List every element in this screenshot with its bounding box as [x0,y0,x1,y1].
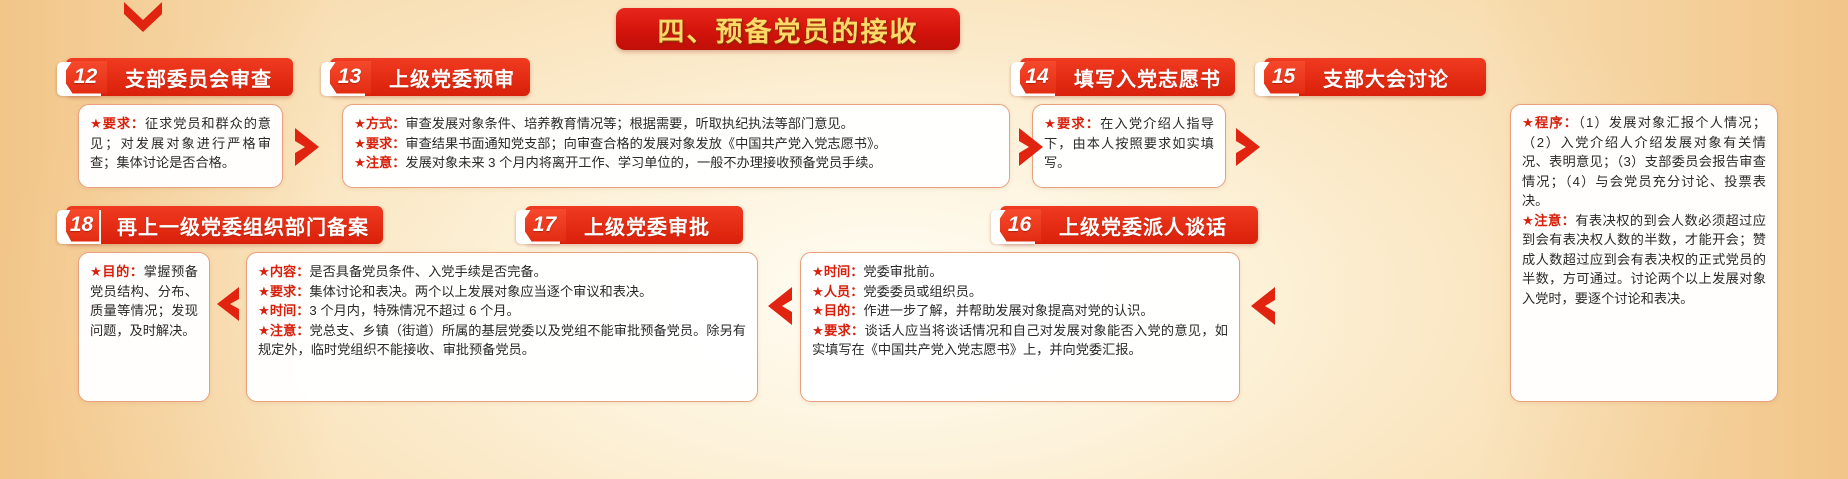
step-number-18: 18 [66,209,99,242]
arrow-15-to-16 [1245,285,1279,327]
step-header-12[interactable]: 12 支部委员会审查 [66,58,293,96]
line-label: ★要求： [354,136,405,151]
line-text: 作进一步了解，并帮助发展对象提高对党的认识。 [863,303,1153,318]
card-line: ★要求：集体讨论和表决。两个以上发展对象应当逐个审议和表决。 [258,282,746,302]
line-text: 党委审批前。 [863,264,942,279]
line-label: ★目的： [812,303,863,318]
step-title-18: 再上一级党委组织部门备案 [117,211,383,240]
line-label: ★内容： [258,264,309,279]
card-line: ★目的：作进一步了解，并帮助发展对象提高对党的认识。 [812,301,1228,321]
card-line: ★方式：审查发展对象条件、培养教育情况等；根据需要，听取执纪执法等部门意见。 [354,114,998,134]
step-number-17: 17 [525,209,566,242]
line-label: ★注意： [1522,213,1575,228]
step-header-17[interactable]: 17 上级党委审批 [525,206,743,244]
line-label: ★目的： [90,264,144,279]
step-number-16: 16 [1000,209,1041,242]
step-number-13: 13 [330,61,371,94]
card-line: ★目的：掌握预备党员结构、分布、质量等情况；发现问题，及时解决。 [90,262,198,340]
line-label: ★要求： [258,284,309,299]
step-number-12: 12 [66,61,107,94]
line-text: 3 个月内，特殊情况不超过 6 个月。 [309,303,519,318]
infographic-canvas: 四、预备党员的接收 12 支部委员会审查 ★要求：征求党员和群众的意见；对发展对… [0,0,1848,479]
card-line: ★注意：有表决权的到会人数必须超过应到会有表决权人数的半数，才能开会；赞成人数超… [1522,211,1766,309]
line-label: ★时间： [812,264,863,279]
line-label: ★程序： [1522,115,1578,130]
card-line: ★时间：3 个月内，特殊情况不超过 6 个月。 [258,301,746,321]
chevron-down-icon [120,0,166,42]
line-label: ★时间： [258,303,309,318]
step-title-16: 上级党委派人谈话 [1059,211,1241,240]
line-text: 集体讨论和表决。两个以上发展对象应当逐个审议和表决。 [309,284,652,299]
step-card-16: ★时间：党委审批前。 ★人员：党委委员或组织员。 ★目的：作进一步了解，并帮助发… [800,252,1240,402]
step-number-15: 15 [1264,61,1305,94]
step-title-14: 填写入党志愿书 [1074,63,1235,92]
line-text: 是否具备党员条件、入党手续是否完备。 [309,264,546,279]
line-text: 审查发展对象条件、培养教育情况等；根据需要，听取执纪执法等部门意见。 [405,116,853,131]
line-text: 发展对象未来 3 个月内将离开工作、学习单位的，一般不办理接收预备党员手续。 [405,155,881,170]
step-header-13[interactable]: 13 上级党委预审 [330,58,530,96]
step-number-14: 14 [1020,61,1056,94]
arrow-14-to-15 [1232,126,1266,168]
page-title: 四、预备党员的接收 [616,8,960,50]
step-card-12: ★要求：征求党员和群众的意见；对发展对象进行严格审查；集体讨论是否合格。 [78,104,283,188]
card-line: ★要求：审查结果书面通知党支部；向审查合格的发展对象发放《中国共产党入党志愿书》… [354,134,998,154]
line-text: 党总支、乡镇（街道）所属的基层党委以及党组不能审批预备党员。除另有规定外，临时党… [258,323,746,358]
step-title-12: 支部委员会审查 [125,63,286,92]
arrow-17-to-18 [213,285,243,323]
card-line: ★内容：是否具备党员条件、入党手续是否完备。 [258,262,746,282]
step-card-18: ★目的：掌握预备党员结构、分布、质量等情况；发现问题，及时解决。 [78,252,210,402]
step-card-15: ★程序：（1）发展对象汇报个人情况；（2）入党介绍人介绍发展对象有关情况、表明意… [1510,104,1778,402]
step-header-14[interactable]: 14 填写入党志愿书 [1020,58,1235,96]
arrow-13-to-14 [1015,126,1049,168]
line-label: ★注意： [354,155,405,170]
line-label: ★方式： [354,116,405,131]
step-card-14: ★要求：在入党介绍人指导下，由本人按照要求如实填写。 [1032,104,1226,188]
page-title-text: 四、预备党员的接收 [658,10,919,49]
step-card-13: ★方式：审查发展对象条件、培养教育情况等；根据需要，听取执纪执法等部门意见。 ★… [342,104,1010,188]
card-line: ★人员：党委委员或组织员。 [812,282,1228,302]
line-text: 谈话人应当将谈话情况和自己对发展对象能否入党的意见，如实填写在《中国共产党入党志… [812,323,1228,358]
card-line: ★程序：（1）发展对象汇报个人情况；（2）入党介绍人介绍发展对象有关情况、表明意… [1522,113,1766,211]
line-label: ★要求： [1044,116,1100,131]
line-label: ★注意： [258,323,310,338]
card-line: ★注意：党总支、乡镇（街道）所属的基层党委以及党组不能审批预备党员。除另有规定外… [258,321,746,360]
line-label: ★人员： [812,284,863,299]
step-title-17: 上级党委审批 [584,211,724,240]
line-label: ★要求： [90,116,145,131]
step-header-16[interactable]: 16 上级党委派人谈话 [1000,206,1258,244]
step-header-18[interactable]: 18 再上一级党委组织部门备案 [66,206,383,244]
line-text: 审查结果书面通知党支部；向审查合格的发展对象发放《中国共产党入党志愿书》。 [405,136,886,151]
line-text: 党委委员或组织员。 [863,284,982,299]
step-header-15[interactable]: 15 支部大会讨论 [1264,58,1486,96]
card-line: ★要求：谈话人应当将谈话情况和自己对发展对象能否入党的意见，如实填写在《中国共产… [812,321,1228,360]
step-title-13: 上级党委预审 [389,63,529,92]
line-label: ★要求： [812,323,865,338]
step-title-15: 支部大会讨论 [1323,63,1463,92]
arrow-12-to-13 [291,126,325,168]
card-line: ★要求：征求党员和群众的意见；对发展对象进行严格审查；集体讨论是否合格。 [90,114,271,173]
card-line: ★时间：党委审批前。 [812,262,1228,282]
step-card-17: ★内容：是否具备党员条件、入党手续是否完备。 ★要求：集体讨论和表决。两个以上发… [246,252,758,402]
arrow-16-to-17 [762,285,796,327]
card-line: ★要求：在入党介绍人指导下，由本人按照要求如实填写。 [1044,114,1214,173]
card-line: ★注意：发展对象未来 3 个月内将离开工作、学习单位的，一般不办理接收预备党员手… [354,153,998,173]
